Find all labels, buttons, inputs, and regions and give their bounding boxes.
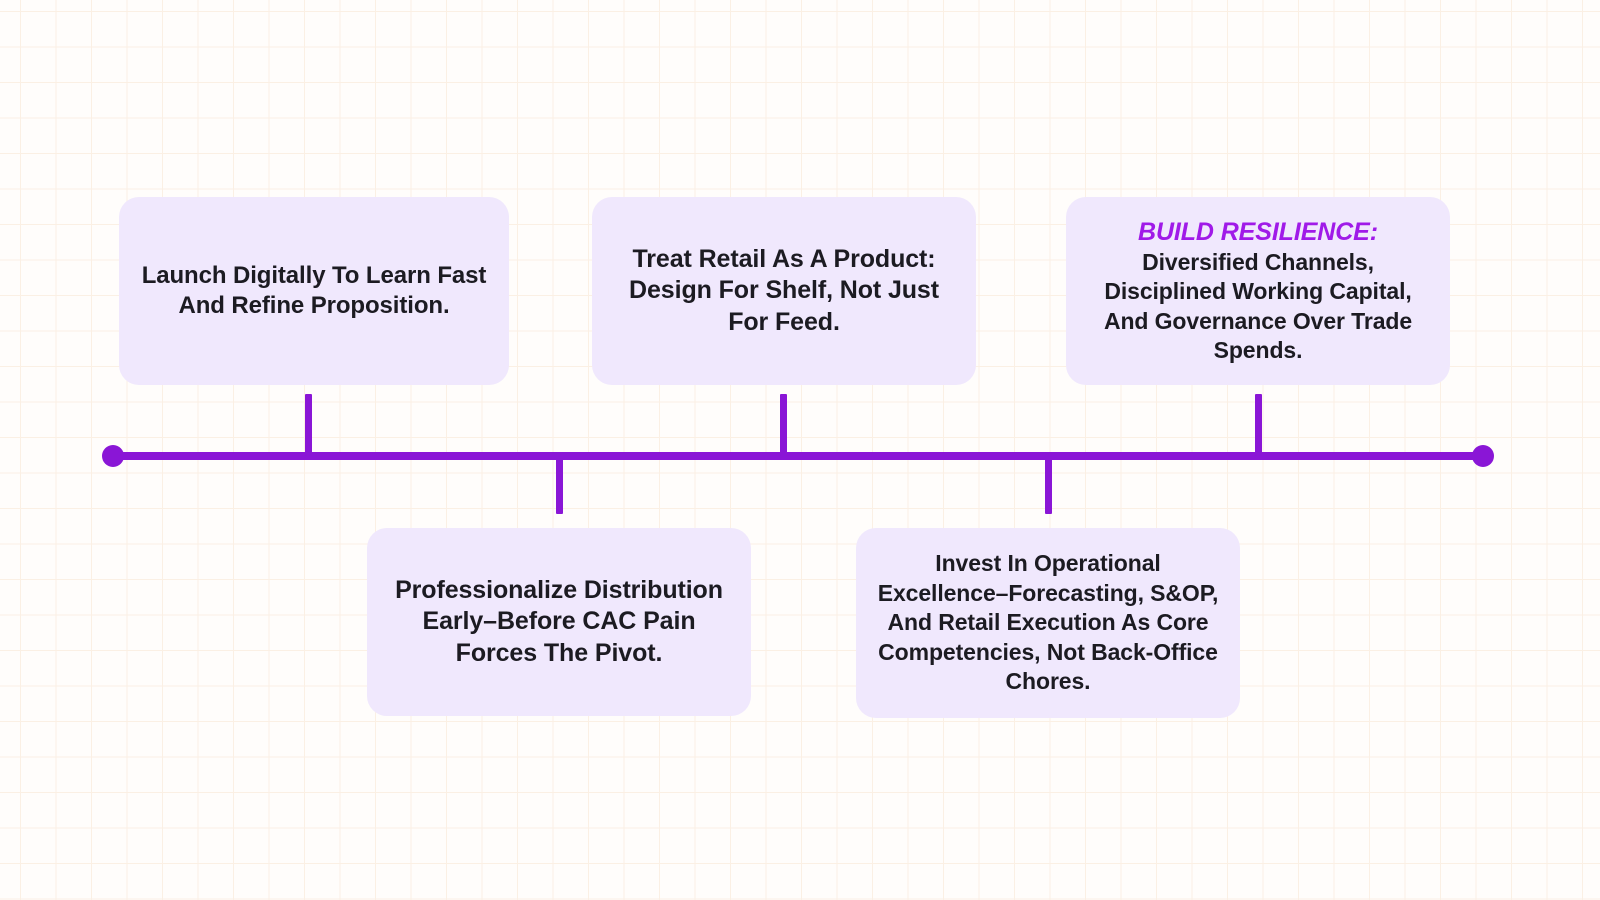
connector-stem-card-5: [1045, 452, 1052, 514]
timeline-card-3[interactable]: BUILD RESILIENCE: Diversified Channels, …: [1066, 197, 1450, 385]
timeline-axis: [110, 452, 1486, 460]
connector-stem-card-2: [780, 394, 787, 456]
timeline-card-3-heading: BUILD RESILIENCE:: [1138, 217, 1378, 248]
timeline-card-5[interactable]: Invest In Operational Excellence–Forecas…: [856, 528, 1240, 718]
connector-stem-card-1: [305, 394, 312, 456]
timeline-card-1-text: Launch Digitally To Learn Fast And Refin…: [139, 261, 489, 321]
timeline-start-dot-icon: [102, 445, 124, 467]
connector-stem-card-3: [1255, 394, 1262, 456]
timeline-card-3-text: Diversified Channels, Disciplined Workin…: [1086, 248, 1430, 366]
timeline-card-5-text: Invest In Operational Excellence–Forecas…: [876, 549, 1220, 696]
timeline-diagram: Launch Digitally To Learn Fast And Refin…: [0, 0, 1600, 900]
timeline-card-4-text: Professionalize Distribution Early–Befor…: [387, 575, 731, 669]
timeline-card-2-text: Treat Retail As A Product: Design For Sh…: [612, 244, 956, 338]
timeline-end-dot-icon: [1472, 445, 1494, 467]
timeline-card-4[interactable]: Professionalize Distribution Early–Befor…: [367, 528, 751, 716]
connector-stem-card-4: [556, 452, 563, 514]
timeline-card-1[interactable]: Launch Digitally To Learn Fast And Refin…: [119, 197, 509, 385]
timeline-card-2[interactable]: Treat Retail As A Product: Design For Sh…: [592, 197, 976, 385]
